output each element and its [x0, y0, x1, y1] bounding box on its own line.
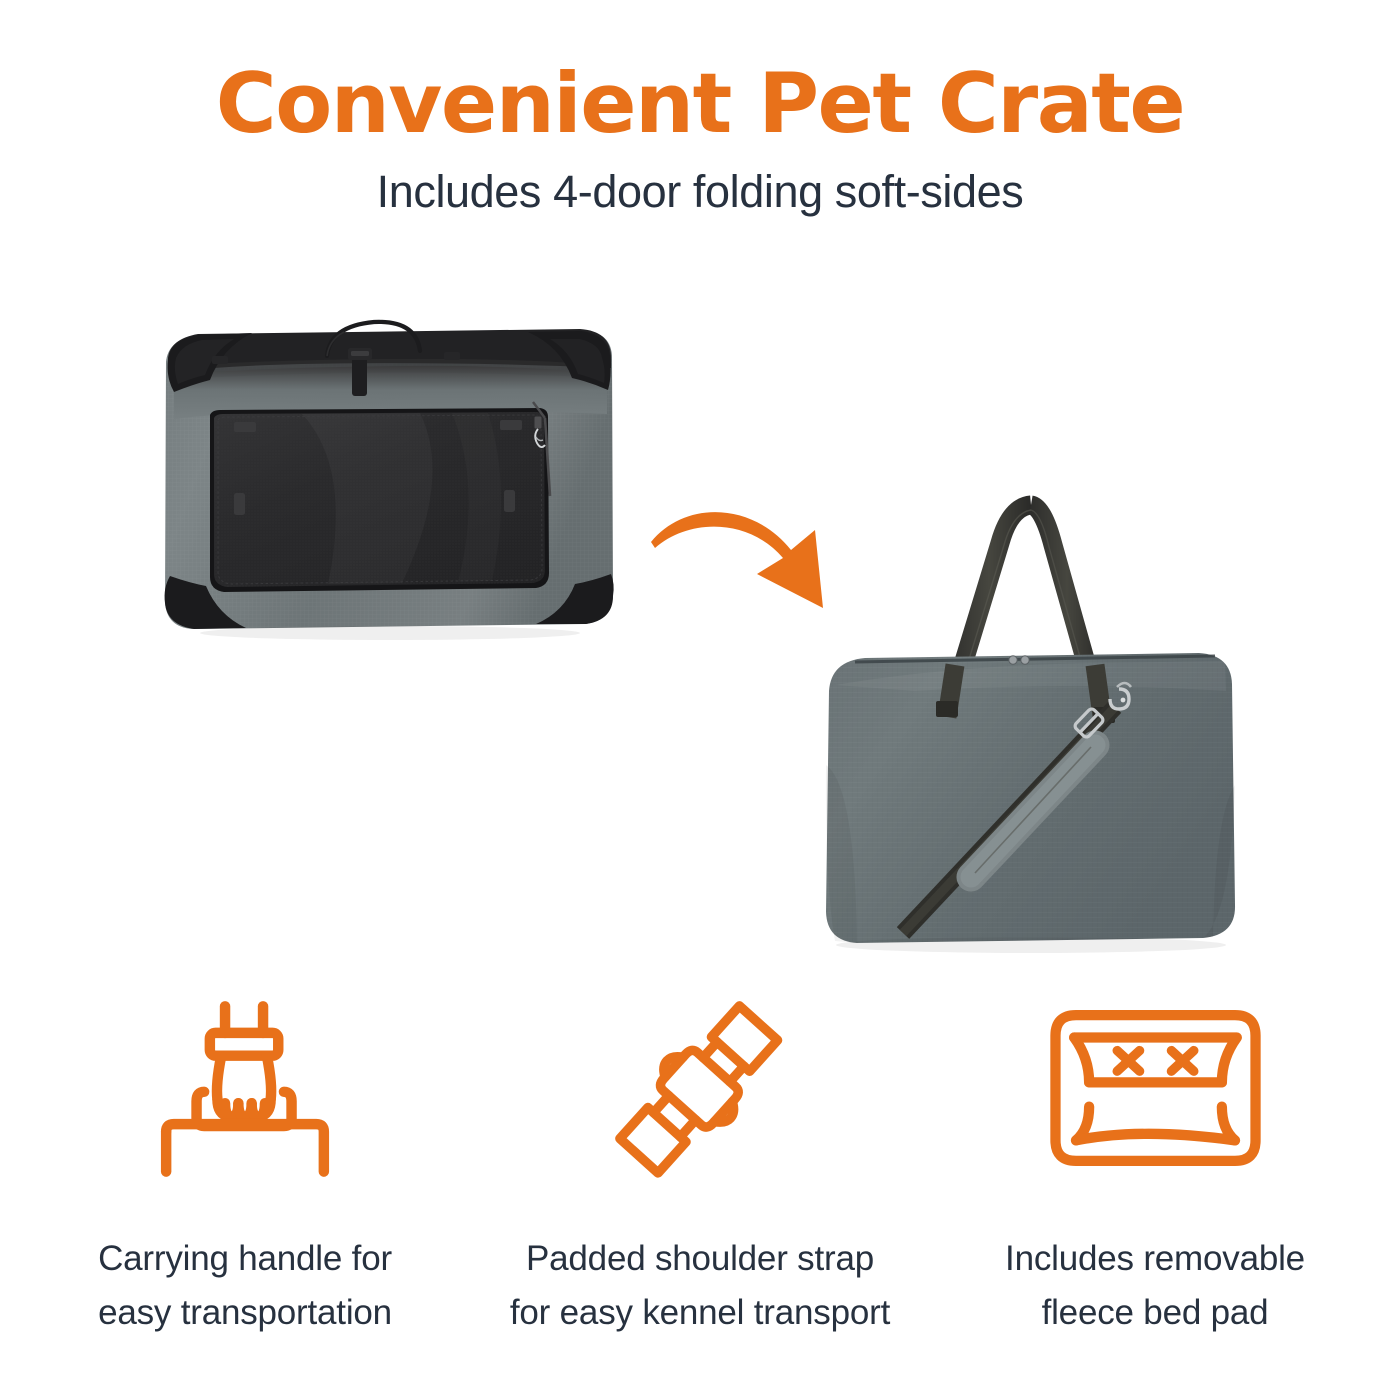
- feature-caption-line1: Includes removable: [1005, 1232, 1305, 1286]
- feature-caption-line2: for easy kennel transport: [510, 1286, 890, 1340]
- product-image-folded-crate: [152, 318, 624, 648]
- carry-bag-illustration: [795, 485, 1265, 955]
- feature-carrying-handle: Carrying handle for easy transportation: [18, 985, 473, 1341]
- feature-icon-wrap: [600, 985, 800, 1190]
- page-title: Convenient Pet Crate: [0, 62, 1400, 145]
- infographic-page: Convenient Pet Crate Includes 4-door fol…: [0, 0, 1400, 1400]
- fleece-bed-pad-icon: [1048, 1003, 1263, 1173]
- crate-mesh-door-panel: [210, 408, 549, 592]
- feature-caption-line1: Carrying handle for: [98, 1232, 392, 1286]
- page-subtitle: Includes 4-door folding soft-sides: [0, 169, 1400, 214]
- crate-illustration: [152, 318, 624, 648]
- feature-shoulder-strap: Padded shoulder strap for easy kennel tr…: [473, 985, 928, 1341]
- feature-icon-wrap: [145, 985, 345, 1190]
- feature-fleece-bed-pad: Includes removable fleece bed pad: [928, 985, 1383, 1341]
- feature-caption: Includes removable fleece bed pad: [1005, 1232, 1305, 1341]
- feature-caption: Carrying handle for easy transportation: [98, 1232, 392, 1341]
- feature-caption: Padded shoulder strap for easy kennel tr…: [510, 1232, 890, 1341]
- stitch-mark-right: [1171, 1050, 1193, 1071]
- stitch-mark-left: [1117, 1050, 1139, 1071]
- feature-caption-line2: easy transportation: [98, 1286, 392, 1340]
- product-image-carry-bag: [795, 485, 1265, 955]
- feature-caption-line2: fleece bed pad: [1005, 1286, 1305, 1340]
- feature-icon-wrap: [1048, 985, 1263, 1190]
- carrying-handle-icon: [145, 993, 345, 1183]
- shoulder-strap-icon: [600, 993, 800, 1183]
- header: Convenient Pet Crate Includes 4-door fol…: [0, 62, 1400, 214]
- feature-row: Carrying handle for easy transportation: [0, 985, 1400, 1341]
- feature-caption-line1: Padded shoulder strap: [510, 1232, 890, 1286]
